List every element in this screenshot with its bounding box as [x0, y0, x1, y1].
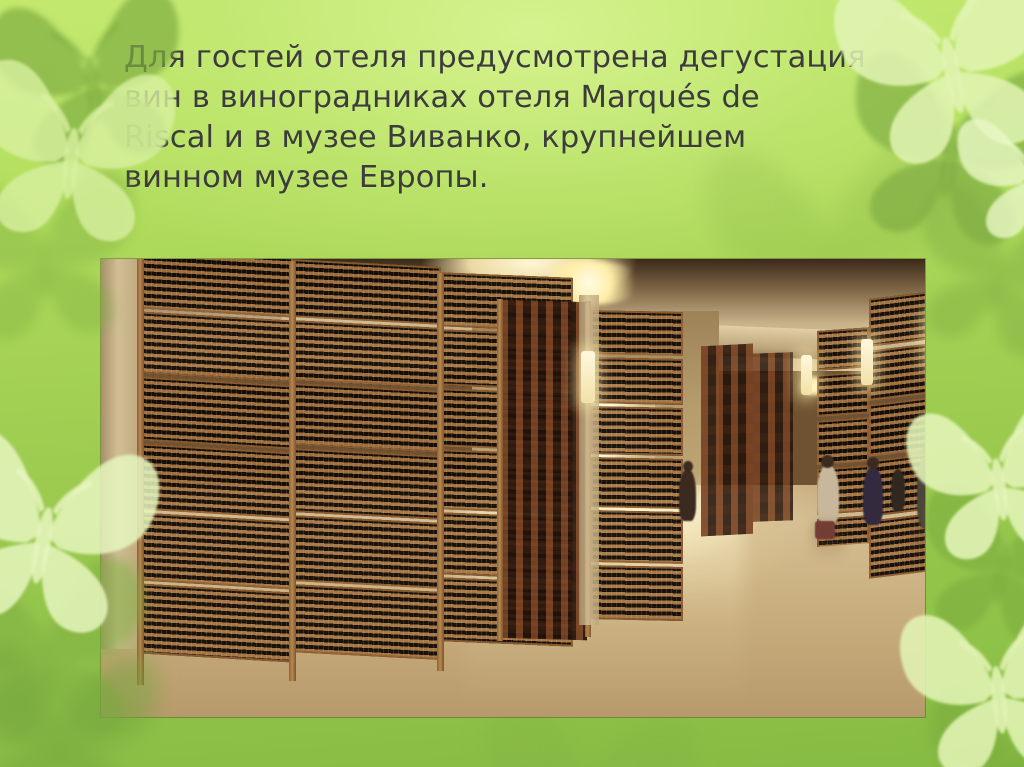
visitor-figure	[821, 455, 834, 468]
body-text-line-4: винном музее Европы.	[124, 158, 914, 198]
crate-lattice-right	[753, 352, 793, 522]
visitor-figure	[679, 469, 696, 521]
body-text-line-2: вин в виноградниках отеля Marqués de	[124, 78, 914, 118]
wall-light-icon	[581, 351, 595, 403]
butterfly-silhouette	[889, 594, 1024, 767]
floor-reflection	[813, 523, 843, 563]
visitor-figure	[863, 467, 883, 525]
crate-stack	[591, 310, 683, 632]
visitor-figure	[867, 457, 879, 469]
body-text-line-1: Для гостей отеля предусмотрена дегустаци…	[124, 38, 914, 78]
slide-body-text: Для гостей отеля предусмотрена дегустаци…	[124, 38, 914, 198]
wine-cellar-photo	[101, 259, 925, 717]
crate-lattice-tower	[501, 300, 587, 640]
butterfly-silhouette	[0, 52, 185, 263]
visitor-figure	[683, 461, 693, 472]
crate-lattice-right	[701, 344, 753, 537]
butterfly-silhouette	[0, 639, 166, 767]
wall-light-icon	[801, 355, 812, 395]
crate-post	[289, 261, 296, 681]
slide-canvas: Для гостей отеля предусмотрена дегустаци…	[0, 0, 1024, 767]
photo-mid-pillar	[579, 295, 599, 625]
butterfly-silhouette	[949, 103, 1024, 254]
wall-light-icon	[861, 339, 873, 385]
butterfly-silhouette	[895, 388, 1024, 580]
crate-stack	[293, 259, 441, 687]
crate-post	[497, 299, 503, 641]
visitor-figure	[817, 465, 839, 525]
crate-post	[437, 273, 444, 671]
body-text-line-3: Riscal и в музее Виванко, крупнейшем	[124, 118, 914, 158]
